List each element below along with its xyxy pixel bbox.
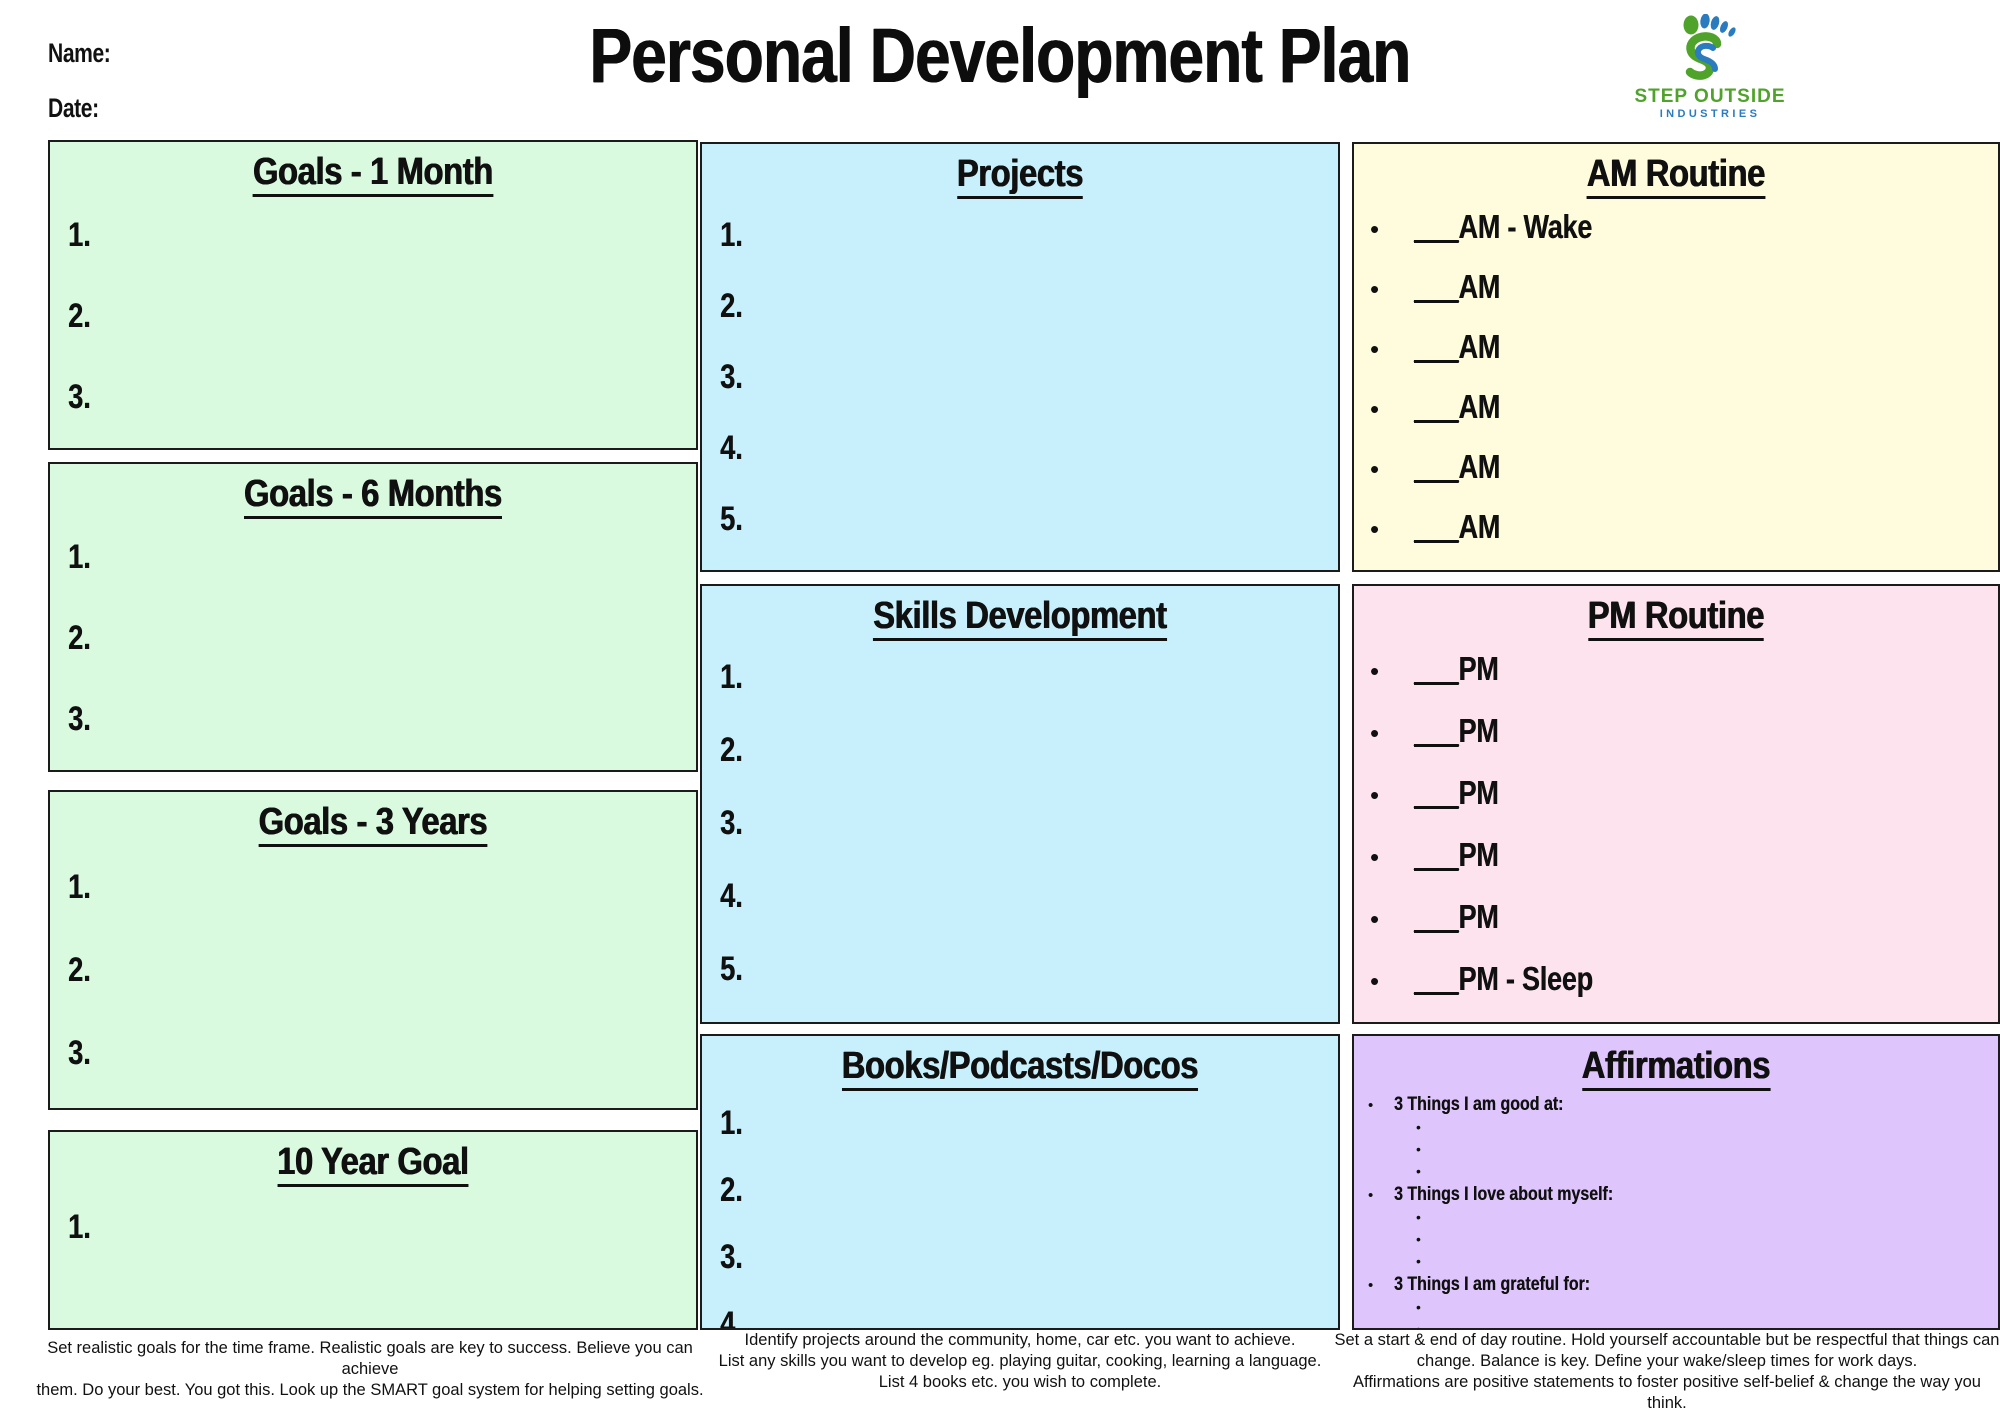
list-item[interactable]: 3. — [720, 1238, 1214, 1277]
list-item[interactable]: 5. — [720, 500, 1214, 539]
list-item[interactable]: • 3 Things I am good at: — [1354, 1094, 1998, 1116]
list-item[interactable]: 3. — [68, 378, 570, 417]
bullet-icon: • — [1370, 456, 1414, 482]
projects-list: 1. 2. 3. 4. 5. — [702, 216, 1338, 539]
bullet-icon: • — [1370, 968, 1414, 994]
panel-title-skills-development: Skills Development — [747, 586, 1294, 636]
list-item[interactable]: • ___AM — [1354, 508, 1998, 546]
footer-note-projects: Identify projects around the community, … — [690, 1330, 1350, 1393]
affirmation-blank-line[interactable]: • — [1354, 1296, 1998, 1318]
list-item[interactable]: 4. — [720, 429, 1214, 468]
pm-routine-list: • ___PM • ___PM • ___PM • ___PM • ___PM … — [1354, 650, 1998, 998]
panel-title-pm-routine: PM Routine — [1399, 586, 1953, 636]
pm-routine-time-slot[interactable]: ___PM — [1414, 650, 1499, 688]
pm-routine-time-slot[interactable]: ___PM — [1414, 898, 1499, 936]
list-item[interactable]: 3. — [720, 804, 1214, 843]
panel-title-books-podcasts-docos: Books/Podcasts/Docos — [747, 1036, 1294, 1086]
bullet-icon: • — [1368, 1097, 1394, 1114]
bullet-icon: • — [1370, 396, 1414, 422]
pm-routine-time-slot[interactable]: ___PM — [1414, 712, 1499, 750]
list-item[interactable]: 1. — [68, 216, 570, 255]
list-item[interactable]: • 3 Things I love about myself: — [1354, 1184, 1998, 1206]
affirmation-blank-line[interactable]: • — [1354, 1228, 1998, 1250]
list-item[interactable]: 2. — [720, 1171, 1214, 1210]
affirmations-list: • 3 Things I am good at: • • • • 3 Thing… — [1354, 1094, 1998, 1330]
list-item[interactable]: 3. — [68, 1034, 570, 1073]
list-item[interactable]: 2. — [720, 287, 1214, 326]
panel-goals-6-months: Goals - 6 Months 1. 2. 3. — [48, 462, 698, 772]
affirmation-blank-line[interactable]: • — [1354, 1116, 1998, 1138]
list-item[interactable]: • ___PM — [1354, 650, 1998, 688]
panel-title-affirmations: Affirmations — [1399, 1036, 1953, 1086]
bullet-icon: • — [1368, 1187, 1394, 1204]
pm-routine-time-slot[interactable]: ___PM — [1414, 836, 1499, 874]
bullet-icon: • — [1370, 336, 1414, 362]
am-routine-time-slot[interactable]: ___AM — [1414, 268, 1500, 306]
list-item[interactable]: 4. — [720, 877, 1214, 916]
page-title: Personal Development Plan — [585, 16, 1415, 96]
panel-title-goals-6-months: Goals - 6 Months — [95, 464, 651, 514]
goals-1-month-list: 1. 2. 3. — [50, 216, 696, 417]
bullet-icon: • — [1370, 906, 1414, 932]
list-item[interactable]: 4. — [720, 1305, 1214, 1330]
panel-projects: Projects 1. 2. 3. 4. 5. — [700, 142, 1340, 572]
footer-line: change. Balance is key. Define your wake… — [1334, 1351, 2000, 1372]
list-item[interactable]: 5. — [720, 950, 1214, 989]
footer-line: Set realistic goals for the time frame. … — [30, 1338, 710, 1380]
list-item[interactable]: • ___PM — [1354, 898, 1998, 936]
affirmation-group-heading: 3 Things I love about myself: — [1394, 1184, 1613, 1206]
list-item[interactable]: 3. — [720, 358, 1214, 397]
panel-title-goals-3-years: Goals - 3 Years — [95, 792, 651, 842]
books-podcasts-docos-list: 1. 2. 3. 4. — [702, 1104, 1338, 1330]
footer-line: Set a start & end of day routine. Hold y… — [1334, 1330, 2000, 1351]
am-routine-time-slot[interactable]: ___AM - Wake — [1414, 208, 1592, 246]
list-item[interactable]: 3. — [68, 700, 570, 739]
panel-skills-development: Skills Development 1. 2. 3. 4. 5. — [700, 584, 1340, 1024]
goals-3-years-list: 1. 2. 3. — [50, 868, 696, 1073]
affirmation-blank-line[interactable]: • — [1354, 1206, 1998, 1228]
affirmation-group-heading: 3 Things I am good at: — [1394, 1094, 1563, 1116]
list-item[interactable]: 1. — [68, 538, 570, 577]
list-item[interactable]: 1. — [720, 216, 1214, 255]
panel-goals-1-month: Goals - 1 Month 1. 2. 3. — [48, 140, 698, 450]
panel-am-routine: AM Routine • ___AM - Wake • ___AM • ___A… — [1352, 142, 2000, 572]
list-item[interactable]: 2. — [68, 619, 570, 658]
affirmation-blank-line[interactable]: • — [1354, 1250, 1998, 1272]
am-routine-list: • ___AM - Wake • ___AM • ___AM • ___AM •… — [1354, 208, 1998, 546]
panel-books-podcasts-docos: Books/Podcasts/Docos 1. 2. 3. 4. — [700, 1034, 1340, 1330]
bullet-icon: • — [1368, 1277, 1394, 1294]
bullet-icon: • — [1370, 516, 1414, 542]
footer-line: them. Do your best. You got this. Look u… — [30, 1380, 710, 1401]
goals-6-months-list: 1. 2. 3. — [50, 538, 696, 739]
footprint-logo-icon — [1672, 14, 1746, 86]
list-item[interactable]: • ___AM — [1354, 328, 1998, 366]
logo-submark: INDUSTRIES — [1620, 108, 1800, 120]
panel-title-am-routine: AM Routine — [1399, 144, 1953, 194]
list-item[interactable]: 2. — [68, 951, 570, 990]
am-routine-time-slot[interactable]: ___AM — [1414, 448, 1500, 486]
affirmation-group-heading: 3 Things I am grateful for: — [1394, 1274, 1590, 1296]
list-item[interactable]: • 3 Things I am grateful for: — [1354, 1274, 1998, 1296]
pm-routine-time-slot[interactable]: ___PM - Sleep — [1414, 960, 1593, 998]
footer-line: List 4 books etc. you wish to complete. — [690, 1372, 1350, 1393]
list-item[interactable]: • ___PM - Sleep — [1354, 960, 1998, 998]
bullet-icon: • — [1370, 658, 1414, 684]
panel-title-goals-1-month: Goals - 1 Month — [95, 142, 651, 192]
affirmation-blank-line[interactable]: • — [1354, 1160, 1998, 1182]
name-label: Name: — [48, 38, 110, 69]
pm-routine-time-slot[interactable]: ___PM — [1414, 774, 1499, 812]
panel-pm-routine: PM Routine • ___PM • ___PM • ___PM • ___… — [1352, 584, 2000, 1024]
footer-line: List any skills you want to develop eg. … — [690, 1351, 1350, 1372]
bullet-icon: • — [1370, 782, 1414, 808]
list-item[interactable]: • ___AM — [1354, 448, 1998, 486]
list-item[interactable]: • ___AM — [1354, 388, 1998, 426]
step-outside-logo: STEP OUTSIDE INDUSTRIES — [1620, 14, 1800, 124]
bullet-icon: • — [1370, 216, 1414, 242]
list-item[interactable]: • ___AM — [1354, 268, 1998, 306]
panel-goals-3-years: Goals - 3 Years 1. 2. 3. — [48, 790, 698, 1110]
am-routine-time-slot[interactable]: ___AM — [1414, 388, 1500, 426]
panel-affirmations: Affirmations • 3 Things I am good at: • … — [1352, 1034, 2000, 1330]
footer-line: Identify projects around the community, … — [690, 1330, 1350, 1351]
list-item[interactable]: • ___AM - Wake — [1354, 208, 1998, 246]
list-item[interactable]: 1. — [68, 1208, 570, 1247]
panel-title-10-year-goal: 10 Year Goal — [95, 1132, 651, 1182]
list-item[interactable]: • ___PM — [1354, 836, 1998, 874]
footer-note-routines: Set a start & end of day routine. Hold y… — [1334, 1330, 2000, 1414]
list-item[interactable]: 1. — [720, 658, 1214, 697]
am-routine-time-slot[interactable]: ___AM — [1414, 508, 1500, 546]
footer-line: Affirmations are positive statements to … — [1334, 1372, 2000, 1414]
footer-note-goals: Set realistic goals for the time frame. … — [30, 1338, 710, 1401]
list-item[interactable]: 2. — [720, 731, 1214, 770]
list-item[interactable]: 2. — [68, 297, 570, 336]
list-item[interactable]: • ___PM — [1354, 774, 1998, 812]
list-item[interactable]: 1. — [68, 868, 570, 907]
10-year-goal-list: 1. — [50, 1208, 696, 1247]
affirmation-blank-line[interactable]: • — [1354, 1318, 1998, 1330]
bullet-icon: • — [1370, 276, 1414, 302]
list-item[interactable]: 1. — [720, 1104, 1214, 1143]
bullet-icon: • — [1370, 844, 1414, 870]
list-item[interactable]: • ___PM — [1354, 712, 1998, 750]
bullet-icon: • — [1370, 720, 1414, 746]
affirmation-blank-line[interactable]: • — [1354, 1138, 1998, 1160]
panel-title-projects: Projects — [747, 144, 1294, 194]
am-routine-time-slot[interactable]: ___AM — [1414, 328, 1500, 366]
date-label: Date: — [48, 93, 99, 124]
logo-wordmark: STEP OUTSIDE — [1620, 86, 1800, 108]
skills-development-list: 1. 2. 3. 4. 5. — [702, 658, 1338, 989]
page-header: Name: Date: Personal Development Plan ST… — [0, 0, 2000, 132]
panel-10-year-goal: 10 Year Goal 1. — [48, 1130, 698, 1330]
